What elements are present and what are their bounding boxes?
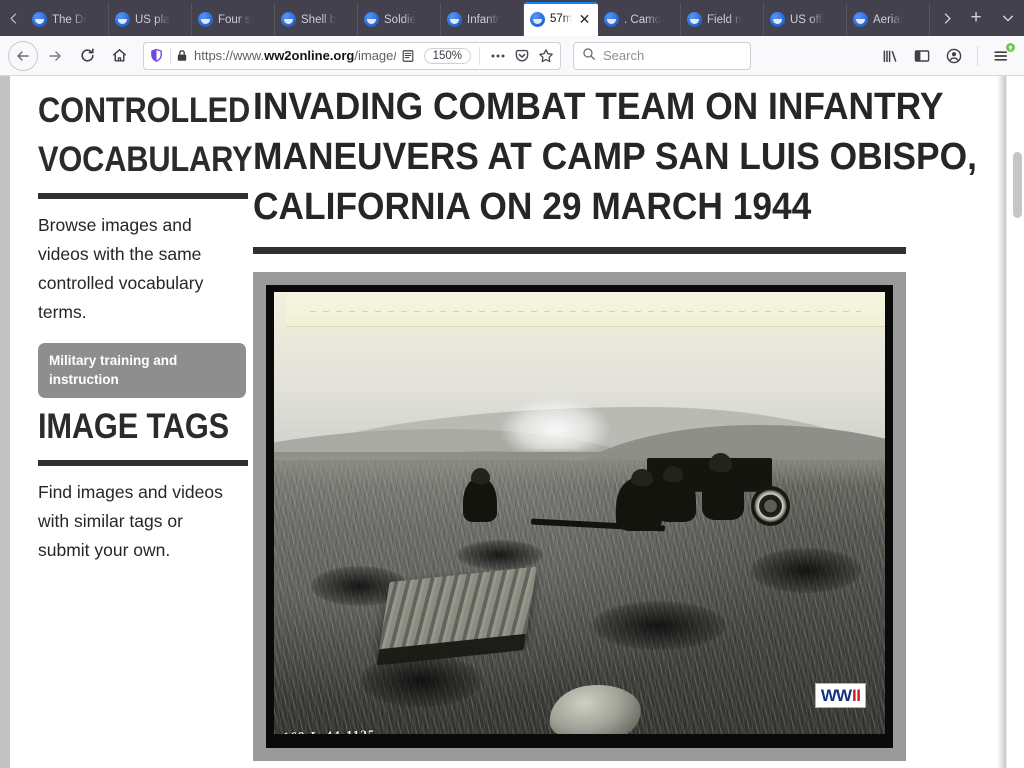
- heading-rule: [38, 193, 248, 199]
- tab-title: The Di: [52, 14, 86, 26]
- tab-title: Field n: [707, 14, 742, 26]
- vertical-scrollbar[interactable]: [1013, 80, 1022, 764]
- image-tags-description: Find images and videos with similar tags…: [38, 478, 235, 565]
- drupal-favicon-icon: [530, 12, 545, 27]
- photo-mat: 168-L-44-1125 WW II: [253, 272, 906, 761]
- image-tags-heading: Image Tags: [38, 402, 236, 451]
- browser-tab[interactable]: Shell b: [275, 3, 358, 36]
- navigation-toolbar: https://www.ww2online.org/image/57mm 150…: [0, 36, 1024, 76]
- address-bar[interactable]: https://www.ww2online.org/image/57mm 150…: [143, 42, 561, 70]
- grass-clump: [751, 548, 861, 592]
- browser-tab[interactable]: . Camo: [598, 3, 681, 36]
- page-actions-ellipsis-icon[interactable]: [488, 53, 507, 59]
- browser-tab-active[interactable]: 57m ✕: [524, 2, 598, 36]
- tab-scroll-left-button[interactable]: [0, 0, 26, 36]
- wwii-museum-watermark: WW II: [816, 684, 866, 707]
- browser-tab[interactable]: Constr: [930, 3, 934, 36]
- drupal-favicon-icon: [281, 12, 296, 27]
- tab-title: Soldie: [384, 14, 416, 26]
- forward-button[interactable]: [40, 41, 70, 71]
- watermark-ww-text: WW: [821, 687, 851, 704]
- title-rule: [253, 247, 906, 254]
- drupal-favicon-icon: [364, 12, 379, 27]
- drupal-favicon-icon: [198, 12, 213, 27]
- watermark-ii-text: II: [852, 687, 860, 704]
- search-bar[interactable]: Search: [573, 42, 751, 70]
- tab-bar: The Di US pla Four s Shell b Soldie Infa…: [0, 0, 1024, 36]
- tab-title: US pla: [135, 14, 170, 26]
- drupal-favicon-icon: [853, 12, 868, 27]
- drupal-favicon-icon: [604, 12, 619, 27]
- drupal-favicon-icon: [32, 12, 47, 27]
- photo-tape-strip: [286, 292, 885, 327]
- soldier-helmet: [471, 468, 491, 484]
- historical-photograph[interactable]: 168-L-44-1125 WW II: [274, 292, 885, 734]
- url-path: /image/57mm: [354, 48, 395, 63]
- browser-tab[interactable]: Aerial: [847, 3, 930, 36]
- browser-tab[interactable]: Infantr: [441, 3, 524, 36]
- page-viewport: Controlled Vocabulary Browse images and …: [0, 76, 1024, 768]
- tabs-strip: The Di US pla Four s Shell b Soldie Infa…: [26, 0, 934, 36]
- home-button[interactable]: [104, 41, 134, 71]
- browser-tab[interactable]: US offi: [764, 3, 847, 36]
- reload-button[interactable]: [72, 41, 102, 71]
- tab-title: US offi: [790, 14, 824, 26]
- browser-tab[interactable]: The Di: [26, 3, 109, 36]
- toolbar-divider: [479, 47, 480, 65]
- account-circle-icon[interactable]: [939, 41, 969, 71]
- tab-scroll-right-button[interactable]: [934, 0, 960, 36]
- soldier-helmet: [709, 453, 732, 472]
- browser-tab[interactable]: Soldie: [358, 3, 441, 36]
- browser-tab[interactable]: US pla: [109, 3, 192, 36]
- grass-clump: [592, 601, 726, 650]
- sidebar-icon[interactable]: [907, 41, 937, 71]
- tab-title: Infantr: [467, 14, 500, 26]
- page-title: Invading combat team on infantry maneuve…: [253, 82, 988, 232]
- library-icon[interactable]: [875, 41, 905, 71]
- gun-wheel: [751, 486, 790, 526]
- photo-border: 168-L-44-1125 WW II: [266, 285, 893, 748]
- scrollbar-gutter: [1006, 76, 1024, 768]
- controlled-vocabulary-term-chip[interactable]: Military training and instruction: [38, 343, 246, 398]
- smoke-plume: [500, 398, 610, 451]
- tab-title: . Camo: [624, 14, 661, 26]
- tracking-protection-shield-icon[interactable]: [149, 48, 165, 63]
- soldier-figure: [463, 478, 497, 522]
- controlled-vocabulary-heading: Controlled Vocabulary: [38, 86, 236, 184]
- drupal-favicon-icon: [687, 12, 702, 27]
- pocket-icon[interactable]: [512, 48, 531, 64]
- address-bar-divider: [170, 47, 171, 64]
- search-input[interactable]: Search: [603, 48, 644, 63]
- page-content: Controlled Vocabulary Browse images and …: [10, 76, 1024, 768]
- tab-title: Four s: [218, 14, 251, 26]
- drupal-favicon-icon: [447, 12, 462, 27]
- close-tab-button[interactable]: ✕: [577, 12, 592, 27]
- search-icon: [582, 47, 596, 64]
- grass-clump: [457, 540, 543, 571]
- zoom-level-badge[interactable]: 150%: [424, 48, 471, 64]
- tab-title: Aerial: [873, 14, 902, 26]
- url-text[interactable]: https://www.ww2online.org/image/57mm: [194, 48, 396, 63]
- toolbar-right-group: [875, 41, 1016, 71]
- drupal-favicon-icon: [115, 12, 130, 27]
- scrollbar-thumb[interactable]: [1013, 152, 1022, 218]
- bookmark-star-icon[interactable]: [536, 48, 555, 64]
- window-left-edge: [0, 76, 10, 768]
- page-sidebar: Controlled Vocabulary Browse images and …: [38, 76, 253, 768]
- controlled-vocabulary-description: Browse images and videos with the same c…: [38, 211, 235, 327]
- browser-tab[interactable]: Four s: [192, 3, 275, 36]
- url-host: ww2online.org: [264, 48, 354, 63]
- browser-tab[interactable]: Field n: [681, 3, 764, 36]
- reader-view-icon[interactable]: [401, 49, 417, 63]
- list-all-tabs-button[interactable]: [992, 0, 1024, 36]
- page-right-shadow: [997, 76, 1006, 768]
- browser-window: The Di US pla Four s Shell b Soldie Infa…: [0, 0, 1024, 768]
- hamburger-menu-button[interactable]: [986, 41, 1016, 71]
- heading-rule: [38, 460, 248, 466]
- update-available-badge-icon: [1005, 42, 1016, 53]
- main-column: Invading combat team on infantry maneuve…: [253, 76, 1024, 768]
- tab-title: 57m: [550, 13, 572, 25]
- url-scheme: https://www.: [194, 48, 264, 63]
- drupal-favicon-icon: [770, 12, 785, 27]
- new-tab-button[interactable]: +: [960, 0, 992, 36]
- toolbar-divider: [977, 46, 978, 66]
- back-button[interactable]: [8, 41, 38, 71]
- padlock-icon[interactable]: [176, 49, 189, 62]
- tab-title: Shell b: [301, 14, 336, 26]
